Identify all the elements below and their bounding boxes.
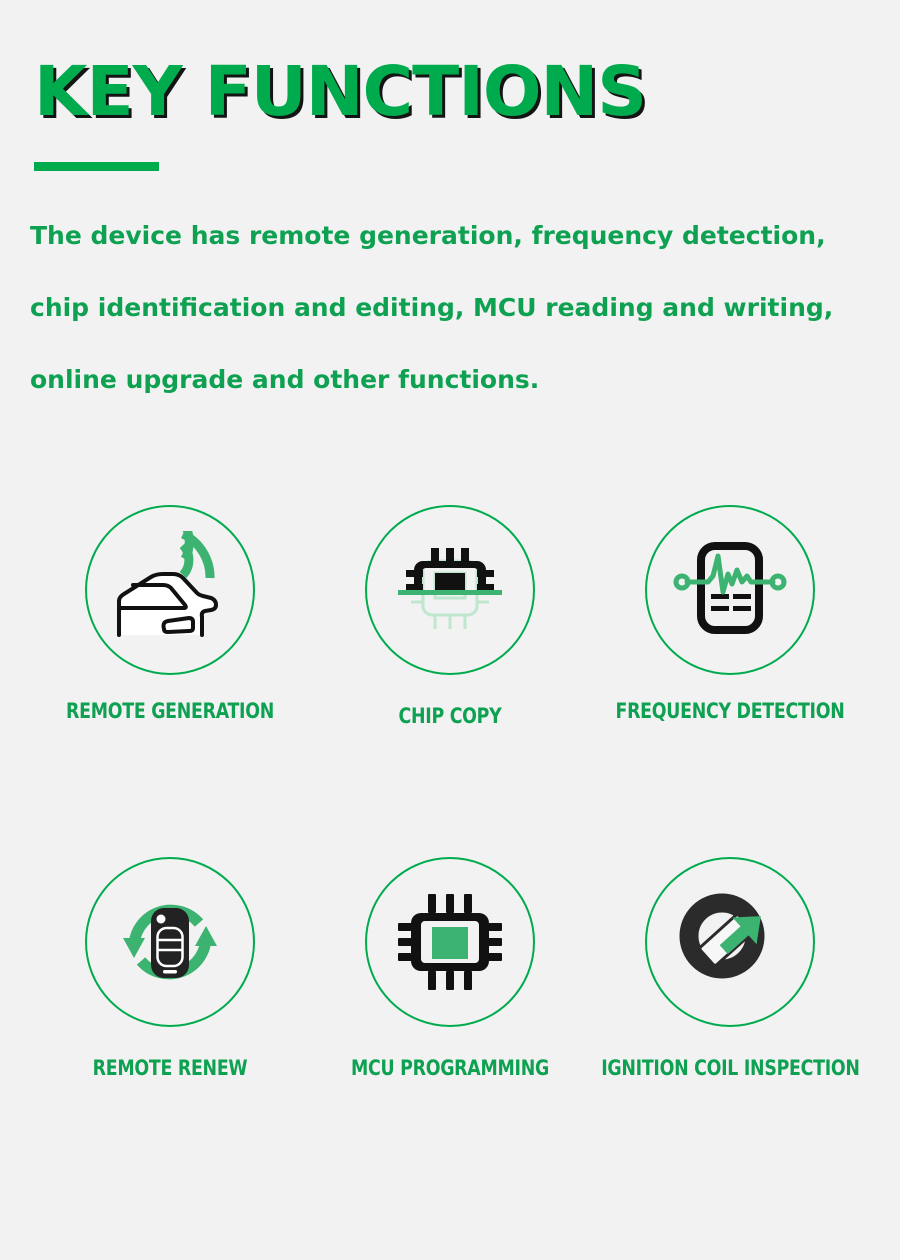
- key-fob-refresh-icon: [111, 886, 229, 998]
- feature-grid: REMOTE GENERATION: [0, 490, 900, 1194]
- feature-label: IGNITION COIL INSPECTION: [601, 1056, 859, 1080]
- feature-label: REMOTE RENEW: [41, 1056, 299, 1080]
- chip-scan-icon: [394, 534, 506, 646]
- mcu-chip-icon: [394, 886, 506, 998]
- feature-icon-circle: [645, 505, 815, 675]
- feature-remote-generation[interactable]: REMOTE GENERATION: [30, 490, 310, 723]
- feature-icon-circle: [365, 857, 535, 1027]
- feature-icon-circle: [85, 505, 255, 675]
- waveform-device-icon: [671, 534, 789, 646]
- feature-icon-circle: [365, 505, 535, 675]
- ignition-coil-icon: [672, 886, 788, 998]
- feature-label: MCU PROGRAMMING: [321, 1056, 579, 1080]
- intro-line-1: The device has remote generation, freque…: [30, 200, 870, 272]
- car-signal-icon: [111, 531, 229, 649]
- feature-label: CHIP COPY: [321, 704, 579, 728]
- intro-line-3: online upgrade and other functions.: [30, 344, 870, 416]
- feature-mcu-programming[interactable]: MCU PROGRAMMING: [310, 842, 590, 1080]
- feature-icon-circle: [645, 857, 815, 1027]
- feature-frequency-detection[interactable]: FREQUENCY DETECTION: [590, 490, 870, 723]
- feature-chip-copy[interactable]: CHIP COPY: [310, 490, 590, 728]
- feature-row-2: REMOTE RENEW: [0, 842, 900, 1194]
- page-title: KEY FUNCTIONS: [34, 58, 864, 127]
- feature-label: REMOTE GENERATION: [41, 699, 299, 723]
- feature-icon-circle: [85, 857, 255, 1027]
- intro-paragraph: The device has remote generation, freque…: [30, 200, 870, 416]
- page-header: KEY FUNCTIONS: [34, 58, 864, 171]
- feature-label: FREQUENCY DETECTION: [601, 699, 859, 723]
- title-underline-rule: [34, 162, 159, 171]
- intro-line-2: chip identification and editing, MCU rea…: [30, 272, 870, 344]
- key-functions-page: KEY FUNCTIONS The device has remote gene…: [0, 0, 900, 1260]
- feature-ignition-coil-inspection[interactable]: IGNITION COIL INSPECTION: [590, 842, 870, 1080]
- feature-remote-renew[interactable]: REMOTE RENEW: [30, 842, 310, 1080]
- feature-row-1: REMOTE GENERATION: [0, 490, 900, 842]
